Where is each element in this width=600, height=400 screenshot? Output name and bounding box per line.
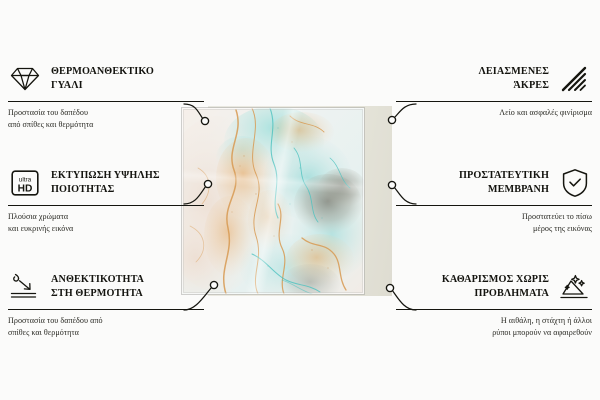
feature-header: ΚΑΘΑΡΙΣΜΟΣ ΧΩΡΙΣ ΠΡΟΒΛΗΜΑΤΑ: [406, 270, 592, 304]
svg-text:HD: HD: [18, 183, 33, 194]
feature-title: ΠΡΟΣΤΑΤΕΥΤΙΚΗ ΜΕΜΒΡΑΝΗ: [459, 169, 549, 196]
sparkle-clean-icon: [558, 270, 592, 304]
feature-protective-membrane: ΠΡΟΣΤΑΤΕΥΤΙΚΗ ΜΕΜΒΡΑΝΗ Προστατεύει το πί…: [406, 166, 592, 235]
feature-title: ΚΑΘΑΡΙΣΜΟΣ ΧΩΡΙΣ ΠΡΟΒΛΗΜΑΤΑ: [442, 273, 549, 300]
svg-text:ultra: ultra: [19, 176, 32, 183]
feature-divider: [396, 309, 592, 310]
flame-deflect-icon: [8, 270, 42, 304]
feature-heat-resistant-glass: ΘΕΡΜΟΑΝΘΕΚΤΙΚΟ ΓΥΑΛΙ Προστασία του δαπέδ…: [8, 62, 194, 131]
feature-header: ΘΕΡΜΟΑΝΘΕΚΤΙΚΟ ΓΥΑΛΙ: [8, 62, 194, 96]
feature-header: ΠΡΟΣΤΑΤΕΥΤΙΚΗ ΜΕΜΒΡΑΝΗ: [406, 166, 592, 200]
diamond-icon: [8, 62, 42, 96]
feature-title: ΘΕΡΜΟΑΝΘΕΚΤΙΚΟ ΓΥΑΛΙ: [51, 65, 154, 92]
feature-divider: [8, 101, 204, 102]
feature-description: Προστατεύει το πίσω μέρος της εικόνας: [406, 211, 592, 235]
feature-high-quality-print: ultra HD ΕΚΤΥΠΩΣΗ ΥΨΗΛΗΣ ΠΟΙΟΤΗΤΑΣ Πλούσ…: [8, 166, 194, 235]
feature-description: Προστασία του δαπέδου από σπίθες και θερ…: [8, 315, 194, 339]
feature-title: ΛΕΙΑΣΜΕΝΕΣ ΆΚΡΕΣ: [478, 65, 549, 92]
ultra-hd-icon: ultra HD: [8, 166, 42, 200]
feature-easy-cleaning: ΚΑΘΑΡΙΣΜΟΣ ΧΩΡΙΣ ΠΡΟΒΛΗΜΑΤΑ Η αιθάλη, η …: [406, 270, 592, 339]
glass-panel: [182, 108, 364, 294]
feature-divider: [8, 309, 204, 310]
infographic-canvas: ΘΕΡΜΟΑΝΘΕΚΤΙΚΟ ΓΥΑΛΙ Προστασία του δαπέδ…: [0, 0, 600, 400]
feature-header: ΛΕΙΑΣΜΕΝΕΣ ΆΚΡΕΣ: [406, 62, 592, 96]
feature-description: Λείο και ασφαλές φινίρισμα: [406, 107, 592, 119]
shield-check-icon: [558, 166, 592, 200]
feature-description: Προστασία του δαπέδου από σπίθες και θερ…: [8, 107, 194, 131]
feature-header: ΑΝΘΕΚΤΙΚΟΤΗΤΑ ΣΤΗ ΘΕΡΜΟΤΗΤΑ: [8, 270, 194, 304]
feature-divider: [396, 101, 592, 102]
feature-divider: [396, 205, 592, 206]
feature-title: ΕΚΤΥΠΩΣΗ ΥΨΗΛΗΣ ΠΟΙΟΤΗΤΑΣ: [51, 169, 160, 196]
feature-polished-edges: ΛΕΙΑΣΜΕΝΕΣ ΆΚΡΕΣ Λείο και ασφαλές φινίρι…: [406, 62, 592, 119]
feature-description: Πλούσια χρώματα και ευκρινής εικόνα: [8, 211, 194, 235]
feature-divider: [8, 205, 204, 206]
polished-edges-icon: [558, 62, 592, 96]
feature-description: Η αιθάλη, η στάχτη ή άλλοι ρύποι μπορούν…: [406, 315, 592, 339]
feature-heat-durability: ΑΝΘΕΚΤΙΚΟΤΗΤΑ ΣΤΗ ΘΕΡΜΟΤΗΤΑ Προστασία το…: [8, 270, 194, 339]
abstract-ink-artwork: [182, 108, 364, 294]
feature-title: ΑΝΘΕΚΤΙΚΟΤΗΤΑ ΣΤΗ ΘΕΡΜΟΤΗΤΑ: [51, 273, 144, 300]
product-image: [182, 106, 392, 296]
feature-header: ultra HD ΕΚΤΥΠΩΣΗ ΥΨΗΛΗΣ ΠΟΙΟΤΗΤΑΣ: [8, 166, 194, 200]
